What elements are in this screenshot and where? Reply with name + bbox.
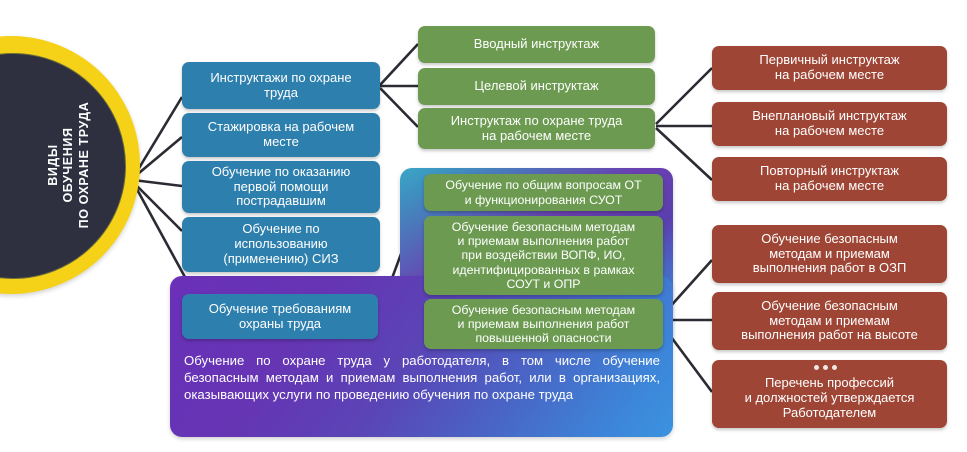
hub-title: ВИДЫ ОБУЧЕНИЯ ПО ОХРАНЕ ТРУДА (46, 60, 93, 270)
node-obuchenie-ozp[interactable]: Обучение безопасным методам и приемам вы… (712, 225, 947, 283)
node-instruktazh-na-rabochem-meste[interactable]: Инструктаж по охране труда на рабочем ме… (418, 108, 655, 149)
wire-instruktazhi-to-vvodnyy (380, 44, 418, 85)
node-obuchenie-pervoy-pomoshchi[interactable]: Обучение по оказанию первой помощи постр… (182, 161, 380, 213)
node-obuchenie-povyshennoy-opasnosti[interactable]: Обучение безопасным методам и приемам вы… (424, 299, 663, 349)
node-perechen-professiy[interactable]: Перечень профессий и должностей утвержда… (712, 360, 947, 428)
diagram-canvas: ВИДЫ ОБУЧЕНИЯ ПО ОХРАНЕ ТРУДА Обучение п… (0, 0, 967, 452)
node-povtornyy-instruktazh[interactable]: Повторный инструктаж на рабочем месте (712, 157, 947, 201)
node-pervichnyy-instruktazh[interactable]: Первичный инструктаж на рабочем месте (712, 46, 947, 90)
node-obuchenie-obshchie-voprosy-ot[interactable]: Обучение по общим вопросам ОТ и функцион… (424, 174, 663, 211)
node-vneplanovyy-instruktazh[interactable]: Внеплановый инструктаж на рабочем месте (712, 102, 947, 146)
node-vvodnyy-instruktazh[interactable]: Вводный инструктаж (418, 26, 655, 63)
wire-instruktazhi-to-na-rabochem-meste (380, 88, 418, 127)
node-obuchenie-vysota[interactable]: Обучение безопасным методам и приемам вы… (712, 292, 947, 350)
hub-title-wrapper: ВИДЫ ОБУЧЕНИЯ ПО ОХРАНЕ ТРУДА (0, 60, 174, 270)
node-tselevoy-instruktazh[interactable]: Целевой инструктаж (418, 68, 655, 105)
node-stazhirovka-na-rabochem-meste[interactable]: Стажировка на рабочем месте (182, 113, 380, 157)
node-instruktazhi-po-ohrane-truda[interactable]: Инструктажи по охране труда (182, 62, 380, 109)
node-obuchenie-vopf-io[interactable]: Обучение безопасным методам и приемам вы… (424, 216, 663, 295)
panel-employer-caption: Обучение по охране труда у работодателя,… (184, 352, 660, 403)
ellipsis-icon (814, 365, 837, 370)
node-obuchenie-trebovaniyam-ohrany-truda[interactable]: Обучение требованиям охраны труда (182, 294, 378, 339)
node-obuchenie-siz[interactable]: Обучение по использованию (применению) С… (182, 217, 380, 272)
wire-narabochem-to-pervichnyy (656, 68, 712, 124)
